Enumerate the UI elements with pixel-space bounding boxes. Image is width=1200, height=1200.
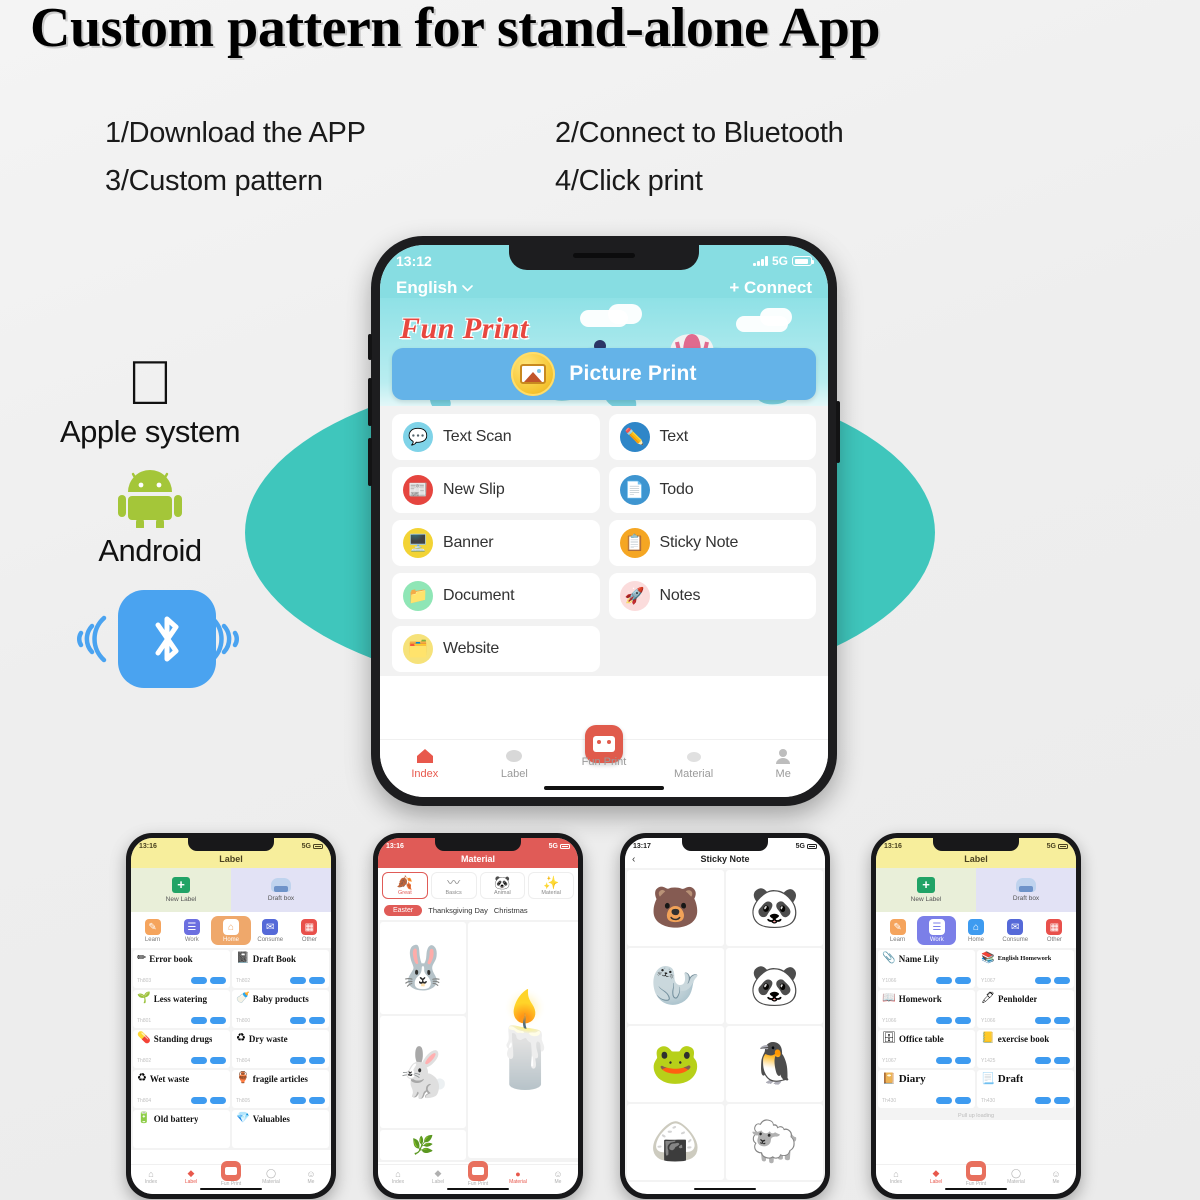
home-indicator (447, 1188, 509, 1191)
category-home[interactable]: ⌂Home (211, 916, 250, 945)
item-icon: 🗄 (882, 1033, 896, 1044)
new-label-text: New Label (166, 896, 197, 903)
other-icon: ▦ (301, 919, 317, 935)
sticker-card[interactable]: 🌿 (380, 1130, 466, 1160)
network-label: 5G (772, 254, 788, 268)
main-phone-mockup: 13:12 5G English + Connect Fun Pr (371, 236, 837, 806)
item-actions[interactable] (936, 1097, 971, 1104)
wave-icon: 〰 (447, 876, 460, 889)
work-icon: ☰ (184, 919, 200, 935)
os-compatibility-column:  Apple system Android (0, 355, 300, 569)
tab-label-text: Material (1007, 1179, 1025, 1185)
new-label-icon (917, 877, 935, 893)
sticker-card[interactable]: 🐼 (726, 870, 823, 946)
tab-fun-print[interactable]: Fun Print (458, 1168, 498, 1187)
label-top-actions: New Label Draft box (131, 868, 331, 912)
item-code: Th801 (137, 1018, 151, 1024)
penguin-icon: 🐧 (750, 1044, 800, 1084)
item-actions[interactable] (191, 1017, 226, 1024)
status-time: 13:12 (396, 253, 432, 269)
item-name: Error book (149, 954, 192, 964)
item-code: Th802 (137, 1058, 151, 1064)
cloud-icon (649, 745, 739, 767)
sticker-card[interactable]: 🐼 (726, 948, 823, 1024)
category-label: Home (968, 937, 984, 943)
item-icon: ♻ (236, 1033, 246, 1044)
banner-icon: 🖥️ (403, 528, 433, 558)
item-icon: 📖 (882, 993, 896, 1004)
item-icon: 📎 (882, 953, 896, 964)
item-icon: 🖊 (981, 993, 995, 1004)
battery-icon (313, 844, 323, 849)
new-label-button[interactable]: New Label (876, 868, 976, 912)
menu-item-label: Banner (443, 534, 493, 552)
candle-icon: 🕯️ (468, 987, 578, 1094)
tab-fun-print[interactable]: Fun Print (559, 745, 649, 768)
learn-icon: ✎ (145, 919, 161, 935)
item-icon: 🌱 (137, 993, 151, 1004)
item-name: Diary (899, 1073, 926, 1085)
document-icon: 📁 (403, 581, 433, 611)
signal-wave-right-icon (202, 608, 258, 670)
consume-icon: ✉ (1007, 919, 1023, 935)
list-item[interactable]: 📖HomeworkY1066 (878, 990, 975, 1028)
battery-icon (1058, 844, 1068, 849)
page-title: Custom pattern for stand-alone App (30, 0, 1200, 60)
network-label: 5G (549, 843, 558, 850)
tab-index[interactable]: ⌂Index (378, 1168, 418, 1185)
category-label: Work (185, 937, 199, 943)
item-icon: ♻ (137, 1073, 147, 1084)
item-icon: 💎 (236, 1113, 250, 1124)
menu-item-label: Document (443, 587, 514, 605)
item-actions[interactable] (1035, 1097, 1070, 1104)
item-icon: 📓 (236, 953, 250, 964)
tab-label-text: Material (509, 1179, 527, 1185)
tab-label-text: Label (930, 1179, 942, 1185)
list-item[interactable]: ♻Wet wasteTh804 (133, 1070, 230, 1108)
list-item[interactable]: 📒exercise bookY1425 (977, 1030, 1074, 1068)
item-code: Y1066 (981, 1018, 995, 1024)
menu-item-label: Notes (660, 587, 701, 605)
fun-print-icon (468, 1161, 488, 1181)
apple-logo-icon:  (0, 355, 300, 414)
app-brand-logo: Fun Print (400, 312, 529, 346)
item-name: Dry waste (249, 1034, 288, 1044)
picture-print-label: Picture Print (569, 362, 696, 386)
category-other[interactable]: ▦Other (290, 916, 329, 945)
rice-ball-icon: 🍙 (651, 1122, 701, 1162)
step-3: 3/Custom pattern (105, 163, 555, 199)
home-indicator (544, 786, 664, 790)
sparkles-icon: ✨ (543, 876, 559, 889)
tab-label-text: Fun Print (221, 1181, 241, 1187)
phone-notch (188, 838, 274, 851)
menu-item-text[interactable]: ✏️ Text (609, 414, 817, 460)
home-icon: ⌂ (131, 1168, 171, 1179)
mini-screen: 13:16 5G Label New Label Draft box (876, 838, 1076, 1194)
language-label: English (396, 278, 457, 298)
app-top-bar: English + Connect (396, 278, 812, 298)
tag-icon (470, 745, 560, 767)
tab-label[interactable]: ◆Label (418, 1168, 458, 1185)
item-name: fragile articles (253, 1074, 308, 1084)
bear-icon: 🐻 (651, 888, 701, 928)
item-code: Th430 (981, 1098, 995, 1104)
tab-material[interactable]: ●Material (498, 1168, 538, 1185)
item-code: Y1066 (882, 978, 896, 984)
item-name: Less watering (154, 994, 207, 1004)
category-row: ✎Learn ☰Work ⌂Home ✉Consume ▦Other (876, 912, 1076, 948)
list-item[interactable]: 🔋Old battery (133, 1110, 230, 1148)
tab-label-text: Label (470, 768, 560, 780)
item-code: Y1067 (882, 1058, 896, 1064)
tag-icon: ◆ (418, 1168, 458, 1179)
home-icon: ⌂ (223, 919, 239, 935)
mini-screen: 13:17 5G Sticky Note ‹ 🐻 🐼 🦭 🐼 🐸 🐧 🍙 🐑 (625, 838, 825, 1194)
tab-label[interactable]: ◆Label (171, 1168, 211, 1185)
feature-menu: 💬 Text Scan ✏️ Text 📰 New Slip 📄 Todo (380, 406, 828, 676)
status-time: 13:16 (139, 843, 157, 850)
battery-icon (792, 256, 812, 266)
signal-wave-left-icon (58, 608, 114, 670)
item-icon: 🏺 (236, 1073, 250, 1084)
step-1: 1/Download the APP (105, 115, 555, 151)
category-row: ✎Learn ☰Work ⌂Home ✉Consume ▦Other (131, 912, 331, 948)
tab-me[interactable]: ☺Me (538, 1168, 578, 1185)
tab-material[interactable]: ◯Material (996, 1168, 1036, 1185)
person-icon: ☺ (291, 1168, 331, 1179)
menu-item-sticky-note[interactable]: 📋 Sticky Note (609, 520, 817, 566)
menu-item-label: New Slip (443, 481, 505, 499)
language-selector[interactable]: English (396, 278, 473, 298)
battery-icon (807, 844, 817, 849)
mini-screen: 13:16 5G Material 🍂Great 〰Basics 🐼Animal… (378, 838, 578, 1194)
material-tab-animal[interactable]: 🐼Animal (480, 872, 526, 899)
item-name: Valuables (253, 1114, 290, 1124)
item-name: Homework (899, 994, 942, 1004)
new-slip-icon: 📰 (403, 475, 433, 505)
item-name: Draft Book (253, 954, 296, 964)
main-phone-screen: 13:12 5G English + Connect Fun Pr (380, 245, 828, 797)
item-icon: 📒 (981, 1033, 995, 1044)
new-label-icon (172, 877, 190, 893)
item-code: Th805 (236, 1098, 250, 1104)
text-scan-icon: 💬 (403, 422, 433, 452)
tab-label-text: Material (262, 1179, 280, 1185)
item-actions[interactable] (191, 977, 226, 984)
menu-item-text-scan[interactable]: 💬 Text Scan (392, 414, 600, 460)
tag-icon: ◆ (916, 1168, 956, 1179)
list-item[interactable]: 📔DiaryTh430 (878, 1070, 975, 1108)
back-chevron-icon[interactable]: ‹ (632, 854, 635, 865)
status-indicators: 5G (1047, 843, 1068, 850)
tab-me[interactable]: ☺Me (1036, 1168, 1076, 1185)
tab-label-text: Animal (494, 890, 511, 896)
item-actions[interactable] (290, 1097, 325, 1104)
tab-label-text: Fun Print (468, 1181, 488, 1187)
draft-box-text: Draft box (268, 895, 294, 902)
list-item[interactable]: ♻Dry wasteTh804 (232, 1030, 329, 1068)
phone-power-button[interactable] (836, 401, 840, 463)
tab-label-text: Material (649, 768, 739, 780)
status-time: 13:16 (386, 843, 404, 850)
item-name: Standing drugs (154, 1034, 213, 1044)
sticker-card[interactable]: 🐰 (380, 922, 466, 1014)
apple-system-label: Apple system (0, 414, 300, 450)
home-icon (380, 745, 470, 767)
category-consume[interactable]: ✉Consume (251, 916, 290, 945)
item-code: Y1066 (882, 1018, 896, 1024)
frog-icon: 🐸 (651, 1044, 701, 1084)
category-label: Learn (890, 937, 905, 943)
item-actions[interactable] (936, 977, 971, 984)
fun-print-icon (221, 1161, 241, 1181)
menu-item-label: Text (660, 428, 689, 446)
menu-item-document[interactable]: 📁 Document (392, 573, 600, 619)
category-learn[interactable]: ✎Learn (878, 916, 917, 945)
leaves-icon: 🌿 (412, 1135, 434, 1156)
network-label: 5G (796, 843, 805, 850)
item-icon: 📃 (981, 1074, 995, 1085)
tab-fun-print[interactable]: Fun Print (956, 1168, 996, 1187)
website-icon: 🗂️ (403, 634, 433, 664)
tab-label: Index (380, 768, 470, 780)
leaf-icon: 🍂 (397, 876, 413, 889)
picture-print-banner[interactable]: Picture Print (392, 348, 816, 400)
tab-label[interactable]: ◆Label (916, 1168, 956, 1185)
status-indicators: 5G (796, 843, 817, 850)
menu-item-website[interactable]: 🗂️ Website (392, 626, 600, 672)
bluetooth-group (30, 590, 280, 710)
material-sticker-grid: 🐰 🐇 🌿 🕯️ (378, 920, 578, 1162)
tab-label-text: Label (432, 1179, 444, 1185)
item-actions[interactable] (290, 1057, 325, 1064)
screen-title: Label (876, 851, 1076, 868)
category-label: Other (1047, 937, 1062, 943)
phone-notch (682, 838, 768, 851)
category-work[interactable]: ☰Work (172, 916, 211, 945)
battery-icon (560, 844, 570, 849)
list-item[interactable]: 💊Standing drugsTh802 (133, 1030, 230, 1068)
tab-index[interactable]: ⌂Index (876, 1168, 916, 1185)
tab-label-text: Me (555, 1179, 562, 1185)
category-consume[interactable]: ✉Consume (996, 916, 1035, 945)
list-item[interactable]: 📓Draft BookTh802 (232, 950, 329, 988)
apple-system-item:  Apple system (0, 355, 300, 450)
item-actions[interactable] (191, 1097, 226, 1104)
person-icon: ☺ (1036, 1168, 1076, 1179)
category-label: Consume (1002, 937, 1028, 943)
item-code: Th804 (137, 1098, 151, 1104)
list-item[interactable]: 🖊PenholderY1066 (977, 990, 1074, 1028)
status-time: 13:16 (884, 843, 902, 850)
subtab-christmas[interactable]: Christmas (494, 906, 528, 915)
other-icon: ▦ (1046, 919, 1062, 935)
label-item-grid: ✏Error bookTh803 📓Draft BookTh802 🌱Less … (131, 948, 331, 1150)
step-2: 2/Connect to Bluetooth (555, 115, 843, 151)
sticker-card[interactable]: 🐻 (627, 870, 724, 946)
tab-label-text: Great (398, 890, 412, 896)
subtab-thanksgiving[interactable]: Thanksgiving Day (428, 906, 488, 915)
item-actions[interactable] (290, 977, 325, 984)
item-name: Penholder (998, 994, 1038, 1004)
phone-volume-up-button[interactable] (368, 378, 372, 426)
sticker-card[interactable]: 🕯️ (468, 922, 578, 1158)
android-robot-icon (115, 468, 185, 528)
category-home[interactable]: ⌂Home (956, 916, 995, 945)
phone-mute-switch[interactable] (368, 334, 372, 360)
connect-button[interactable]: + Connect (729, 278, 812, 298)
mini-phone-label-work: 13:16 5G Label New Label Draft box (871, 833, 1081, 1199)
list-item[interactable]: ✏Error bookTh803 (133, 950, 230, 988)
screen-title: Sticky Note (625, 851, 825, 868)
item-code: Th803 (137, 978, 151, 984)
status-time: 13:17 (633, 843, 651, 850)
list-item[interactable]: 📎Name LilyY1066 (878, 950, 975, 988)
tab-label-text: Material (541, 890, 561, 896)
item-code: Th800 (236, 1018, 250, 1024)
material-tab-basics[interactable]: 〰Basics (431, 872, 477, 899)
item-actions[interactable] (1035, 1057, 1070, 1064)
sticker-card[interactable]: 🐸 (627, 1026, 724, 1102)
list-item[interactable]: 🍼Baby productsTh800 (232, 990, 329, 1028)
item-icon: 📚 (981, 953, 995, 964)
menu-item-notes[interactable]: 🚀 Notes (609, 573, 817, 619)
list-item[interactable]: 💎Valuables (232, 1110, 329, 1148)
item-name: Old battery (154, 1114, 199, 1124)
category-label: Other (302, 937, 317, 943)
home-icon: ⌂ (378, 1168, 418, 1179)
category-other[interactable]: ▦Other (1035, 916, 1074, 945)
fun-print-icon (559, 733, 649, 755)
material-sub-tabs: Easter Thanksgiving Day Christmas (378, 903, 578, 920)
home-indicator (945, 1188, 1007, 1191)
sticker-card[interactable]: 🐇 (380, 1016, 466, 1128)
phone-notch (509, 245, 699, 270)
menu-empty-cell (609, 626, 817, 672)
list-item[interactable]: 🗄Office tableY1067 (878, 1030, 975, 1068)
tab-label-text: Me (308, 1179, 315, 1185)
list-item[interactable]: 🌱Less wateringTh801 (133, 990, 230, 1028)
cloud-shape (760, 308, 792, 326)
item-actions[interactable] (290, 1017, 325, 1024)
sticky-note-icon: 📋 (620, 528, 650, 558)
screen-title: Material (378, 851, 578, 868)
mini-phone-material: 13:16 5G Material 🍂Great 〰Basics 🐼Animal… (373, 833, 583, 1199)
phone-volume-down-button[interactable] (368, 438, 372, 486)
learn-icon: ✎ (890, 919, 906, 935)
sticker-card[interactable]: 🐑 (726, 1104, 823, 1180)
menu-item-banner[interactable]: 🖥️ Banner (392, 520, 600, 566)
draft-box-button[interactable]: Draft box (231, 868, 331, 912)
draft-box-button[interactable]: Draft box (976, 868, 1076, 912)
cloud-icon: ◯ (251, 1168, 291, 1179)
sticker-card[interactable]: 🦭 (627, 948, 724, 1024)
item-actions[interactable] (191, 1057, 226, 1064)
menu-item-todo[interactable]: 📄 Todo (609, 467, 817, 513)
tab-me[interactable]: ☺Me (291, 1168, 331, 1185)
item-name: exercise book (998, 1034, 1050, 1044)
material-category-tabs: 🍂Great 〰Basics 🐼Animal ✨Material (378, 868, 578, 903)
sheep-icon: 🐑 (750, 1122, 800, 1162)
item-icon: ✏ (137, 953, 146, 964)
cloud-icon: ● (498, 1168, 538, 1179)
list-item[interactable]: 📃DraftTh430 (977, 1070, 1074, 1108)
list-item[interactable]: 🏺fragile articlesTh805 (232, 1070, 329, 1108)
item-name: Draft (998, 1073, 1024, 1085)
feature-menu-grid: 💬 Text Scan ✏️ Text 📰 New Slip 📄 Todo (392, 414, 816, 672)
cloud-icon: ◯ (996, 1168, 1036, 1179)
menu-item-new-slip[interactable]: 📰 New Slip (392, 467, 600, 513)
draft-box-text: Draft box (1013, 895, 1039, 902)
item-code: Th802 (236, 978, 250, 984)
tab-fun-print[interactable]: Fun Print (211, 1168, 251, 1187)
item-name: Baby products (253, 994, 309, 1004)
tab-material[interactable]: Material (649, 745, 739, 780)
tab-index[interactable]: ⌂Index (131, 1168, 171, 1185)
item-icon: 📔 (882, 1074, 896, 1085)
page-root: Custom pattern for stand-alone App 1/Dow… (0, 0, 1200, 1200)
item-actions[interactable] (936, 1057, 971, 1064)
tab-label-text: Basics (446, 890, 462, 896)
item-icon: 🍼 (236, 993, 250, 1004)
item-code: Th430 (882, 1098, 896, 1104)
network-label: 5G (302, 843, 311, 850)
subtab-easter[interactable]: Easter (384, 905, 422, 916)
tab-me[interactable]: Me (738, 745, 828, 780)
category-learn[interactable]: ✎Learn (133, 916, 172, 945)
hero-illustration: Fun Print (380, 298, 828, 406)
label-item-grid: 📎Name LilyY1066 📚English HomeworkY1067 📖… (876, 948, 1076, 1110)
tab-label-text: Fun Print (559, 756, 649, 768)
pull-up-loading-text: Pull up loading (876, 1110, 1076, 1120)
item-icon: 💊 (137, 1033, 151, 1044)
cloud-shape (608, 304, 642, 324)
new-label-button[interactable]: New Label (131, 868, 231, 912)
tab-label[interactable]: Label (470, 745, 560, 780)
sticker-card[interactable]: 🍙 (627, 1104, 724, 1180)
item-actions[interactable] (936, 1017, 971, 1024)
category-work[interactable]: ☰Work (917, 916, 956, 945)
chevron-down-icon (462, 285, 473, 292)
android-label: Android (0, 533, 300, 569)
todo-icon: 📄 (620, 475, 650, 505)
item-actions[interactable] (1035, 977, 1070, 984)
menu-item-label: Sticky Note (660, 534, 739, 552)
sticker-card[interactable]: 🐧 (726, 1026, 823, 1102)
item-code: Th804 (236, 1058, 250, 1064)
person-icon: ☺ (538, 1168, 578, 1179)
tab-label-text: Fun Print (966, 1181, 986, 1187)
notes-icon: 🚀 (620, 581, 650, 611)
material-tab-great[interactable]: 🍂Great (382, 872, 428, 899)
mini-screen: 13:16 5G Label New Label Draft box (131, 838, 331, 1194)
tab-index[interactable]: Index (380, 745, 470, 780)
item-actions[interactable] (1035, 1017, 1070, 1024)
network-label: 5G (1047, 843, 1056, 850)
category-label: Work (930, 937, 944, 943)
category-label: Learn (145, 937, 160, 943)
material-tab-material[interactable]: ✨Material (528, 872, 574, 899)
draft-box-icon (271, 878, 291, 892)
tab-material[interactable]: ◯Material (251, 1168, 291, 1185)
fun-print-icon (966, 1161, 986, 1181)
tag-icon: ◆ (171, 1168, 211, 1179)
menu-item-label: Website (443, 640, 499, 658)
list-item[interactable]: 📚English HomeworkY1067 (977, 950, 1074, 988)
tab-label-text: Index (890, 1179, 902, 1185)
